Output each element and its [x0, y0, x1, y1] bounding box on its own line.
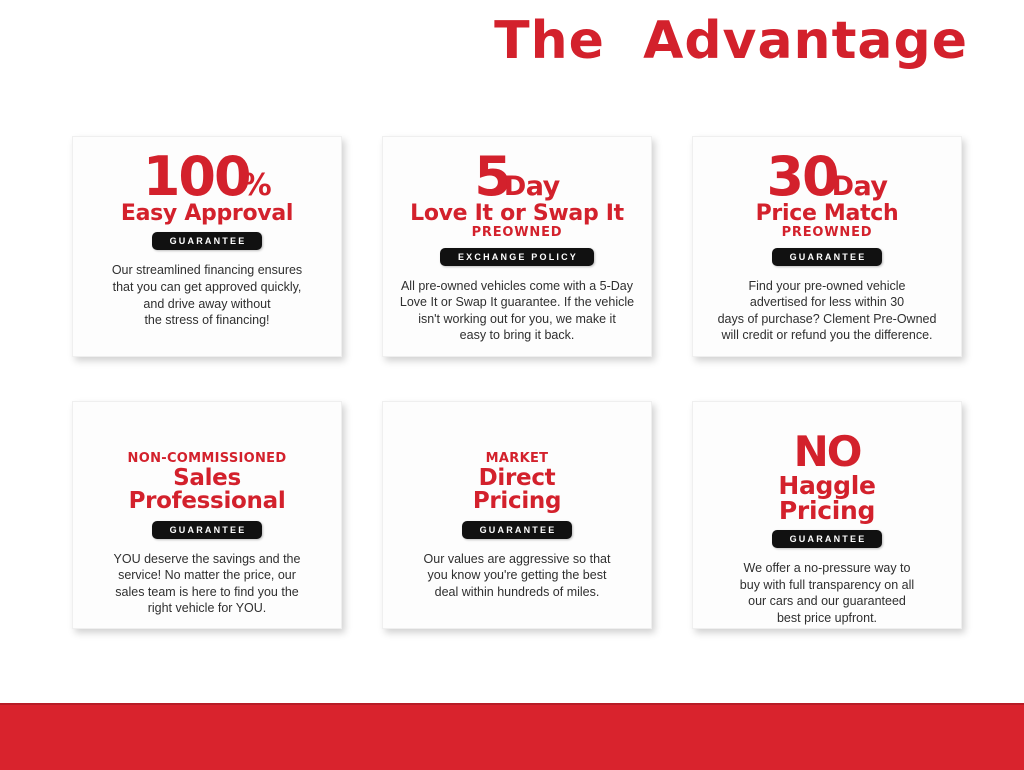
card-headline: Haggle Pricing [778, 473, 875, 523]
card-headline: Price Match [756, 203, 899, 225]
card-headline-block: NO Haggle Pricing [705, 432, 949, 523]
headline-lockup: 30 Day [766, 151, 887, 202]
card-headline: Easy Approval [121, 203, 293, 225]
card-kicker: MARKET [486, 452, 549, 466]
card-subline: PREOWNED [472, 226, 563, 240]
lockup-number: 30 [766, 151, 837, 202]
card-headline-block: 30 Day Price Match PREOWNED [705, 151, 949, 241]
advantage-card-easy-approval[interactable]: 100 % Easy Approval GUARANTEE Our stream… [72, 136, 342, 357]
guarantee-badge: GUARANTEE [152, 521, 263, 539]
guarantee-badge: GUARANTEE [772, 530, 883, 548]
card-headline: Sales Professional [129, 467, 286, 514]
card-kicker: NON-COMMISSIONED [128, 452, 287, 466]
card-headline: Love It or Swap It [410, 203, 624, 225]
advantage-card-love-it-or-swap-it[interactable]: 5 Day Love It or Swap It PREOWNED EXCHAN… [382, 136, 652, 357]
headline-lockup: 5 Day [474, 151, 559, 202]
advantage-card-no-haggle-pricing[interactable]: NO Haggle Pricing GUARANTEE We offer a n… [692, 401, 962, 629]
lockup-number: NO [794, 432, 861, 472]
lockup-suffix: Day [832, 174, 888, 200]
guarantee-badge: GUARANTEE [462, 521, 573, 539]
card-description: Our streamlined financing ensures that y… [85, 262, 329, 329]
advantage-cards-grid: 100 % Easy Approval GUARANTEE Our stream… [72, 136, 962, 629]
exchange-policy-badge: EXCHANGE POLICY [440, 248, 594, 266]
card-description: We offer a no-pressure way to buy with f… [705, 560, 949, 627]
page-title: The Advantage [494, 12, 968, 72]
card-headline-block: 5 Day Love It or Swap It PREOWNED [395, 151, 639, 241]
headline-lockup: 100 % [143, 151, 271, 202]
card-headline-block: 100 % Easy Approval [85, 151, 329, 225]
lockup-suffix: Day [504, 174, 560, 200]
card-description: All pre-owned vehicles come with a 5-Day… [395, 278, 639, 345]
card-headline-block: MARKET Direct Pricing [395, 452, 639, 514]
card-description: YOU deserve the savings and the service!… [85, 551, 329, 618]
headline-lockup: NO [794, 432, 861, 472]
card-description: Find your pre-owned vehicle advertised f… [705, 278, 949, 345]
advantage-card-non-commissioned-sales[interactable]: NON-COMMISSIONED Sales Professional GUAR… [72, 401, 342, 629]
bottom-accent-bar [0, 703, 1024, 770]
advantage-card-price-match[interactable]: 30 Day Price Match PREOWNED GUARANTEE Fi… [692, 136, 962, 357]
advantage-card-market-direct-pricing[interactable]: MARKET Direct Pricing GUARANTEE Our valu… [382, 401, 652, 629]
card-headline-block: NON-COMMISSIONED Sales Professional [85, 452, 329, 514]
card-subline: PREOWNED [782, 226, 873, 240]
card-description: Our values are aggressive so that you kn… [395, 551, 639, 601]
guarantee-badge: GUARANTEE [152, 232, 263, 250]
guarantee-badge: GUARANTEE [772, 248, 883, 266]
card-headline: Direct Pricing [473, 467, 561, 514]
lockup-number: 100 [143, 151, 250, 202]
lockup-suffix: % [242, 172, 272, 201]
